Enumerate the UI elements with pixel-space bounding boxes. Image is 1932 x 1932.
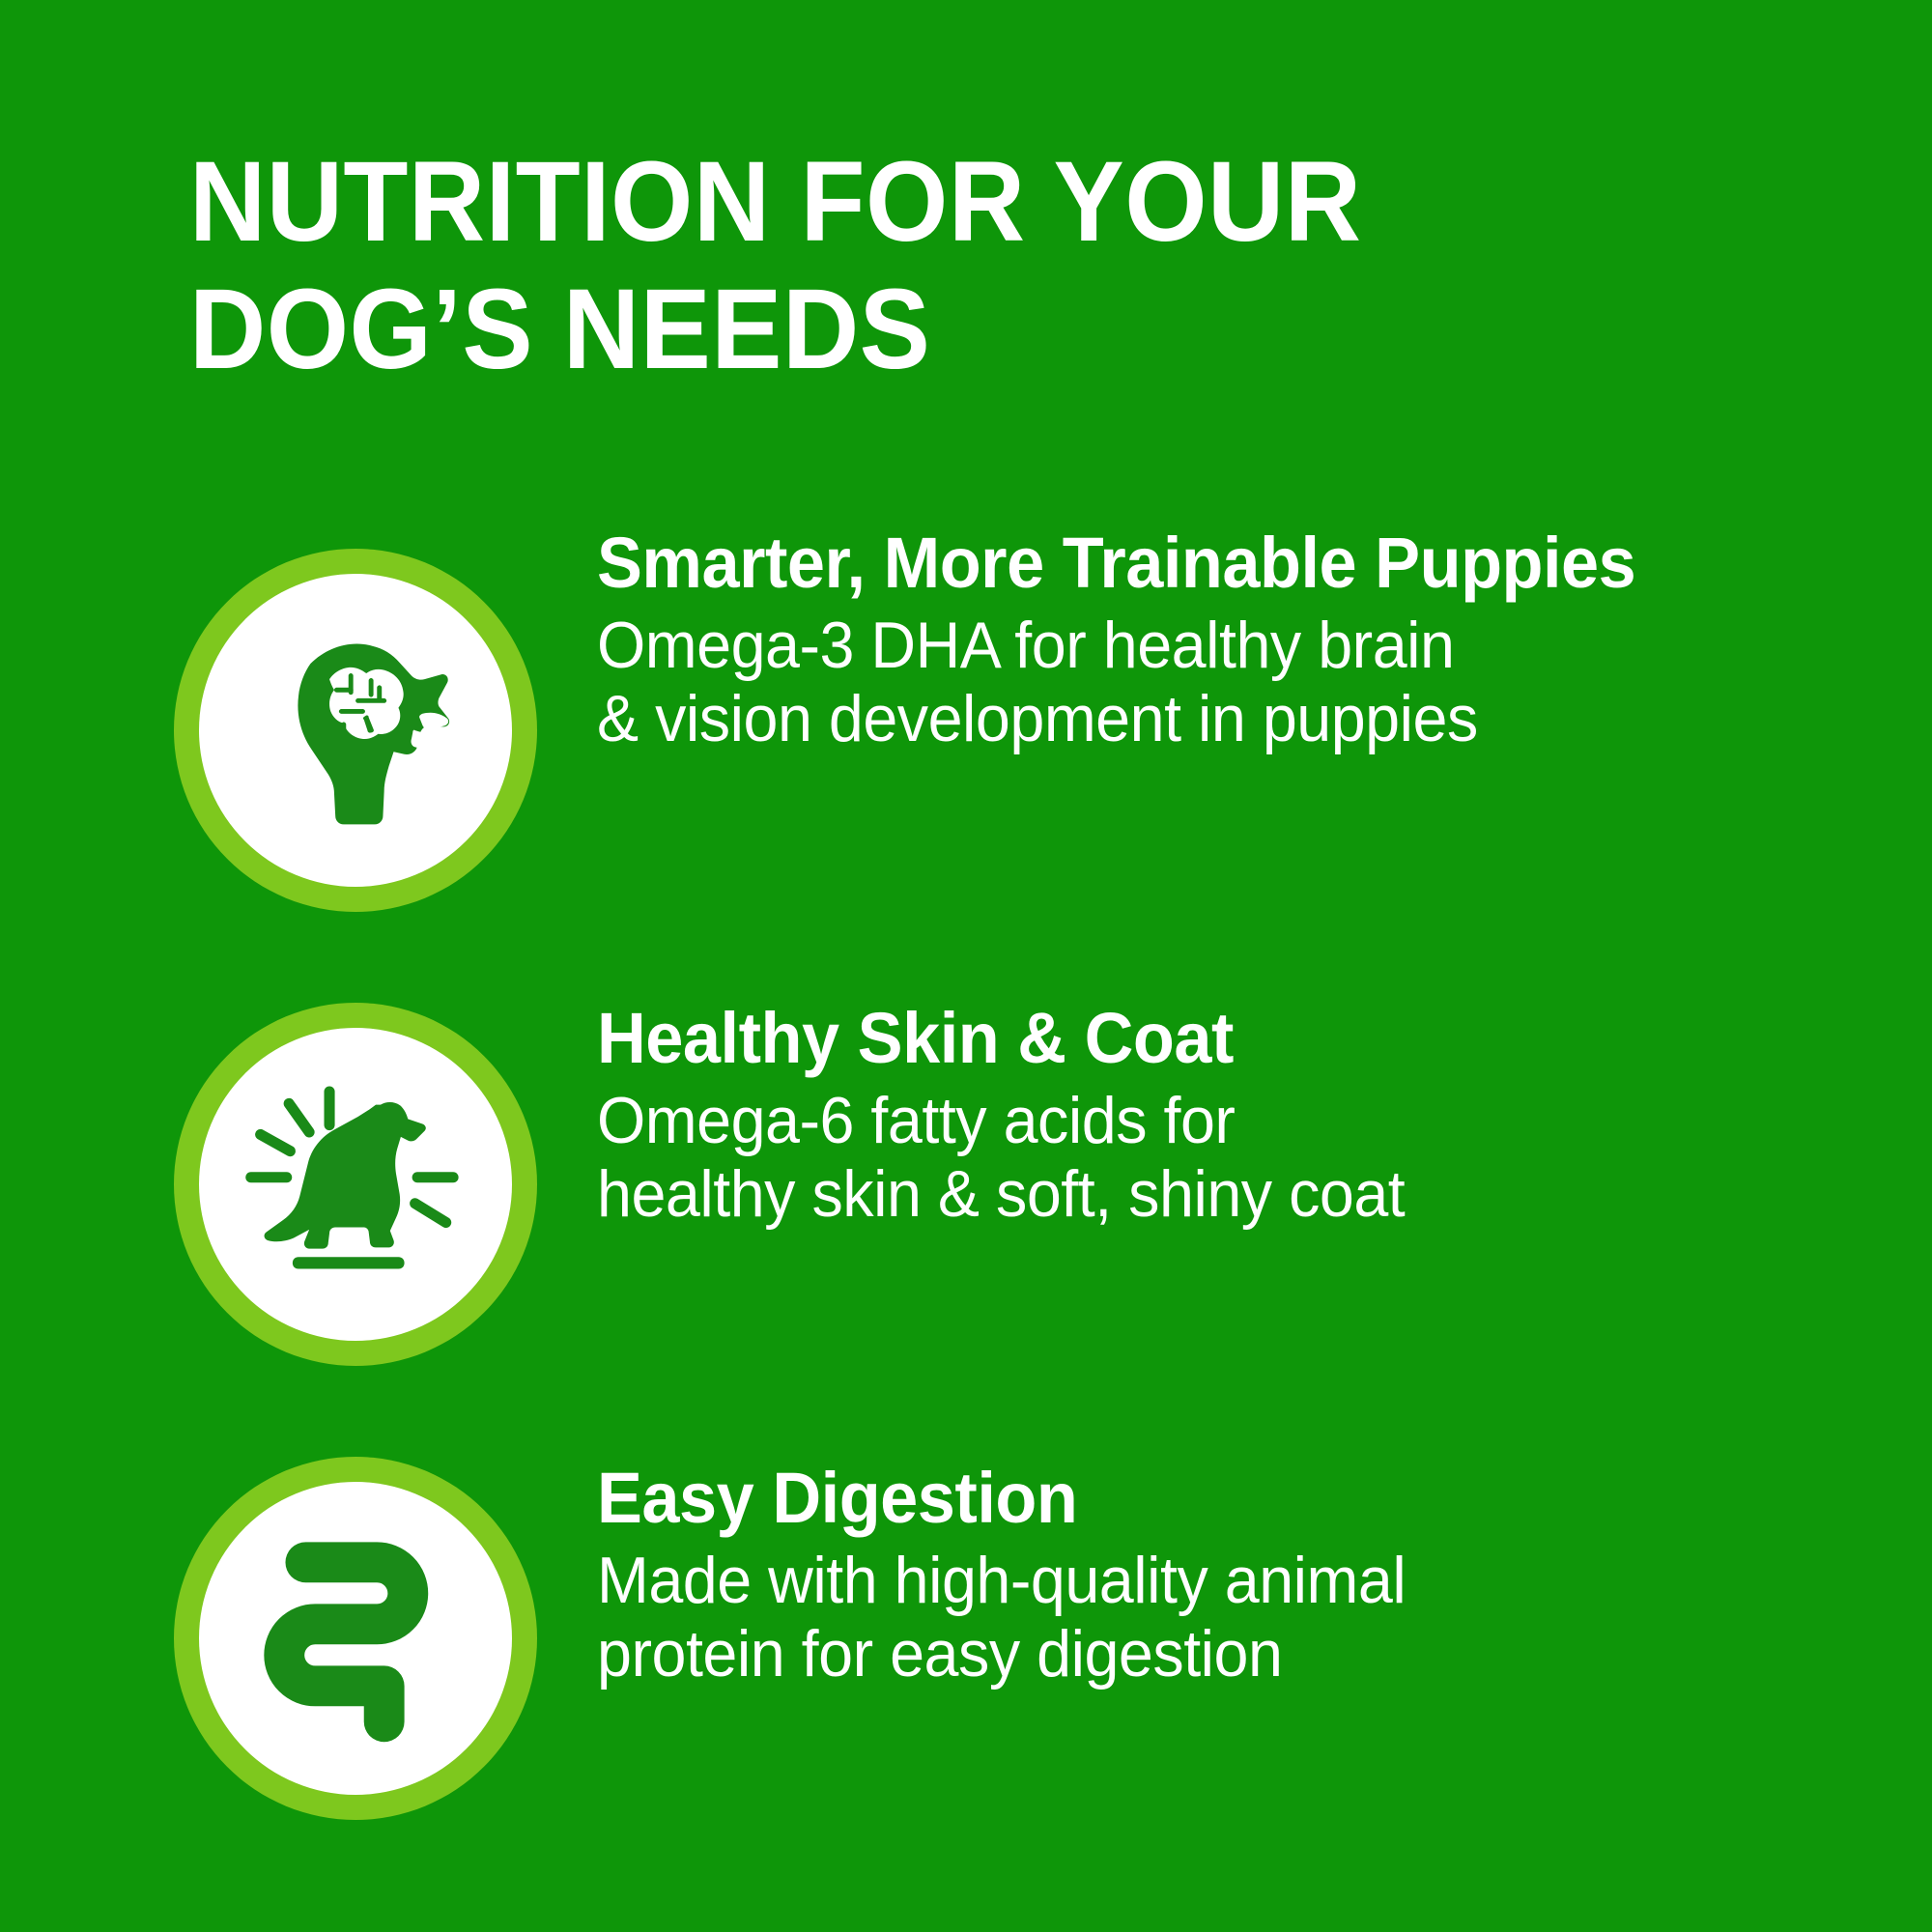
feature-body: Made with high-quality animal protein fo… [597, 1544, 1792, 1690]
feature-body: Omega-3 DHA for healthy brain & vision d… [597, 609, 1792, 755]
feature-body: Omega-6 fatty acids for healthy skin & s… [597, 1084, 1792, 1231]
nutrition-infographic-poster: NUTRITION FOR YOUR DOG’S NEEDS [0, 0, 1932, 1932]
feature-body-line-2: protein for easy digestion [597, 1617, 1792, 1690]
feature-icon-badge [174, 1457, 537, 1820]
feature-text-block: Smarter, More Trainable Puppies Omega-3 … [597, 526, 1932, 755]
page-title-line-2: DOG’S NEEDS [189, 272, 1662, 386]
shiny-sitting-dog-icon [199, 1028, 512, 1341]
page-title: NUTRITION FOR YOUR DOG’S NEEDS [189, 145, 1774, 400]
intestine-digestion-icon [199, 1482, 512, 1795]
feature-heading: Easy Digestion [597, 1461, 1792, 1536]
feature-text-block: Easy Digestion Made with high-quality an… [597, 1461, 1932, 1690]
feature-icon-badge [174, 1003, 537, 1366]
feature-list: Smarter, More Trainable Puppies Omega-3 … [0, 522, 1932, 1884]
feature-text-block: Healthy Skin & Coat Omega-6 fatty acids … [597, 1001, 1932, 1231]
feature-body-line-1: Omega-3 DHA for healthy brain [597, 609, 1792, 682]
page-title-line-1: NUTRITION FOR YOUR [189, 145, 1662, 259]
dog-head-brain-icon [199, 574, 512, 887]
feature-heading: Smarter, More Trainable Puppies [597, 526, 1792, 601]
feature-item-easy-digestion: Easy Digestion Made with high-quality an… [0, 1430, 1932, 1884]
feature-body-line-2: healthy skin & soft, shiny coat [597, 1157, 1792, 1231]
feature-heading: Healthy Skin & Coat [597, 1001, 1792, 1076]
feature-body-line-1: Made with high-quality animal [597, 1544, 1792, 1617]
feature-icon-badge [174, 549, 537, 912]
feature-item-healthy-skin-coat: Healthy Skin & Coat Omega-6 fatty acids … [0, 976, 1932, 1430]
feature-body-line-2: & vision development in puppies [597, 682, 1792, 755]
feature-item-smarter-puppies: Smarter, More Trainable Puppies Omega-3 … [0, 522, 1932, 976]
feature-body-line-1: Omega-6 fatty acids for [597, 1084, 1792, 1157]
